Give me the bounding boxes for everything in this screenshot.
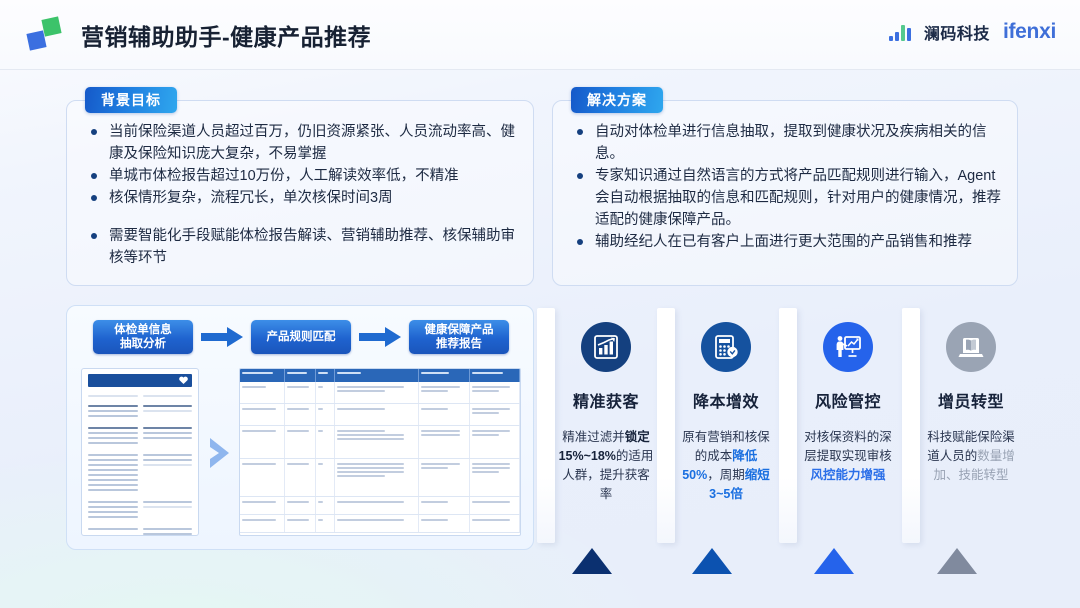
card-separator-bar — [657, 308, 675, 543]
brand-lockup: 澜码科技 ifenxi — [889, 20, 1056, 44]
table-row — [240, 515, 520, 533]
workflow-steps: 体检单信息抽取分析 产品规则匹配 健康保障产品推荐报告 — [67, 318, 535, 356]
workflow-card: 体检单信息抽取分析 产品规则匹配 健康保障产品推荐报告 — [66, 305, 534, 550]
brand-name-cn: 澜码科技 — [924, 20, 990, 44]
bar-chart-icon — [889, 24, 911, 41]
product-rule-table-thumbnail[interactable] — [239, 368, 521, 536]
health-report-document-thumbnail[interactable] — [81, 368, 199, 536]
table-row — [240, 497, 520, 515]
laptop-book-icon — [946, 322, 996, 372]
card-separator-bar — [537, 308, 555, 543]
description-segment: 精准过滤并 — [562, 430, 625, 444]
list-item: 单城市体检报告超过10万份，人工解读效率低，不精准 — [89, 165, 517, 187]
feature-card-description: 科技赋能保险渠道人员的数量增加、技能转型 — [923, 428, 1019, 485]
description-segment: 对核保资料的深层提取实现审核 — [804, 430, 892, 463]
feature-card-2[interactable]: 降本增效原有营销和核保的成本降低50%，周期缩短3~5倍 — [674, 308, 778, 543]
two-squares-logo-icon — [24, 18, 64, 52]
solution-panel: 解决方案 自动对体检单进行信息抽取，提取到健康状况及疾病相关的信息。 专家知识通… — [552, 100, 1018, 286]
table-row — [240, 459, 520, 497]
table-header-row — [240, 369, 520, 382]
feature-card-description: 精准过滤并锁定15%~18%的适用人群，提升获客率 — [558, 428, 654, 504]
flow-step-match[interactable]: 产品规则匹配 — [251, 320, 351, 354]
list-item: 辅助经纪人在已有客户上面进行更大范围的产品销售和推荐 — [575, 231, 1001, 253]
feature-card-description: 原有营销和核保的成本降低50%，周期缩短3~5倍 — [678, 428, 774, 504]
flow-step-extract[interactable]: 体检单信息抽取分析 — [93, 320, 193, 354]
document-title-bar — [88, 374, 192, 387]
feature-card-title: 降本增效 — [674, 388, 778, 412]
card-separator-bar — [779, 308, 797, 543]
feature-card-title: 风险管控 — [796, 388, 900, 412]
feature-card-3[interactable]: 风险管控对核保资料的深层提取实现审核风控能力增强 — [796, 308, 900, 543]
right-arrow-icon — [357, 324, 403, 350]
feature-card-title: 增员转型 — [919, 388, 1023, 412]
flow-step-report[interactable]: 健康保障产品推荐报告 — [409, 320, 509, 354]
solution-list: 自动对体检单进行信息抽取，提取到健康状况及疾病相关的信息。 专家知识通过自然语言… — [575, 121, 1001, 253]
card-separator-bar — [902, 308, 920, 543]
background-goals-list: 当前保险渠道人员超过百万，仍旧资源紧张、人员流动率高、健康及保险知识庞大复杂，不… — [89, 121, 517, 269]
presentation-person-icon — [823, 322, 873, 372]
list-item: 当前保险渠道人员超过百万，仍旧资源紧张、人员流动率高、健康及保险知识庞大复杂，不… — [89, 121, 517, 165]
feature-triangle-marker — [692, 548, 732, 574]
table-row — [240, 426, 520, 459]
brand-name-en: ifenxi — [1003, 20, 1056, 44]
document-body — [88, 392, 192, 536]
list-item: 需要智能化手段赋能体检报告解读、营销辅助推荐、核保辅助审核等环节 — [89, 225, 517, 269]
feature-triangle-marker — [937, 548, 977, 574]
feature-card-1[interactable]: 精准获客精准过滤并锁定15%~18%的适用人群，提升获客率 — [554, 308, 658, 543]
list-item: 专家知识通过自然语言的方式将产品匹配规则进行输入，Agent会自动根据抽取的信息… — [575, 165, 1001, 231]
feature-triangle-marker — [814, 548, 854, 574]
growth-chart-icon — [581, 322, 631, 372]
feature-cards-strip: 精准获客精准过滤并锁定15%~18%的适用人群，提升获客率降本增效原有营销和核保… — [534, 300, 1080, 608]
feature-triangle-marker — [572, 548, 612, 574]
background-goals-panel: 背景目标 当前保险渠道人员超过百万，仍旧资源紧张、人员流动率高、健康及保险知识庞… — [66, 100, 534, 286]
feature-card-4[interactable]: 增员转型科技赋能保险渠道人员的数量增加、技能转型 — [919, 308, 1023, 543]
feature-card-title: 精准获客 — [554, 388, 658, 412]
description-segment: 风控能力增强 — [810, 468, 885, 482]
solution-badge: 解决方案 — [571, 87, 663, 113]
list-item: 核保情形复杂，流程冗长，单次核保时间3周 — [89, 187, 517, 209]
list-item: 自动对体检单进行信息抽取，提取到健康状况及疾病相关的信息。 — [575, 121, 1001, 165]
calculator-icon — [701, 322, 751, 372]
page-title: 营销辅助助手-健康产品推荐 — [81, 18, 371, 52]
page-header: 营销辅助助手-健康产品推荐 澜码科技 ifenxi — [0, 0, 1080, 70]
right-arrow-icon — [199, 324, 245, 350]
table-row — [240, 382, 520, 404]
table-row — [240, 404, 520, 426]
background-goals-badge: 背景目标 — [85, 87, 177, 113]
feature-card-description: 对核保资料的深层提取实现审核风控能力增强 — [800, 428, 896, 485]
chevron-right-icon — [207, 436, 235, 470]
description-segment: ，周期 — [707, 468, 745, 482]
